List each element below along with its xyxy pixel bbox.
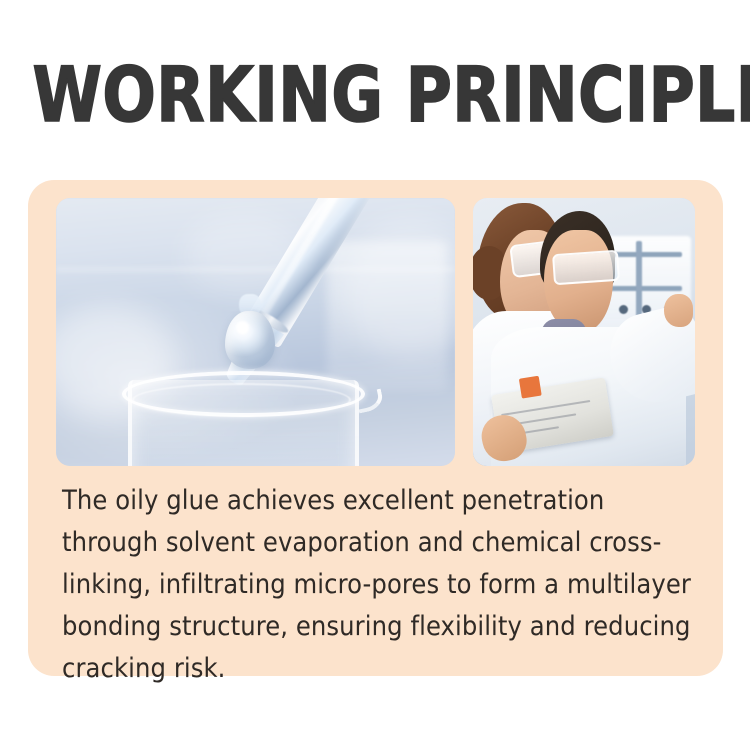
content-card: A glass pipette dispensing a clear dropl… — [28, 180, 723, 676]
page-root: WORKING PRINCIPLE — [0, 0, 750, 735]
blurred-equipment-panel — [327, 241, 447, 391]
man-safety-goggles-icon — [552, 249, 620, 284]
lab-technicians-photo: Two scientists in white lab coats and sa… — [473, 198, 695, 466]
man-hand — [664, 294, 693, 326]
glue-droplet-photo: A glass pipette dispensing a clear dropl… — [56, 198, 455, 466]
clipboard-orange-label — [519, 376, 542, 399]
glue-droplet-icon — [225, 311, 275, 369]
equipment-bar-middle — [606, 286, 681, 291]
image-gallery: A glass pipette dispensing a clear dropl… — [56, 198, 695, 466]
beaker-inner-rim — [132, 383, 351, 417]
description-paragraph: The oily glue achieves excellent penetra… — [62, 480, 692, 690]
page-title: WORKING PRINCIPLE — [32, 56, 750, 134]
page-title-container: WORKING PRINCIPLE — [0, 56, 750, 134]
clipboard-text-line-1 — [501, 400, 590, 416]
